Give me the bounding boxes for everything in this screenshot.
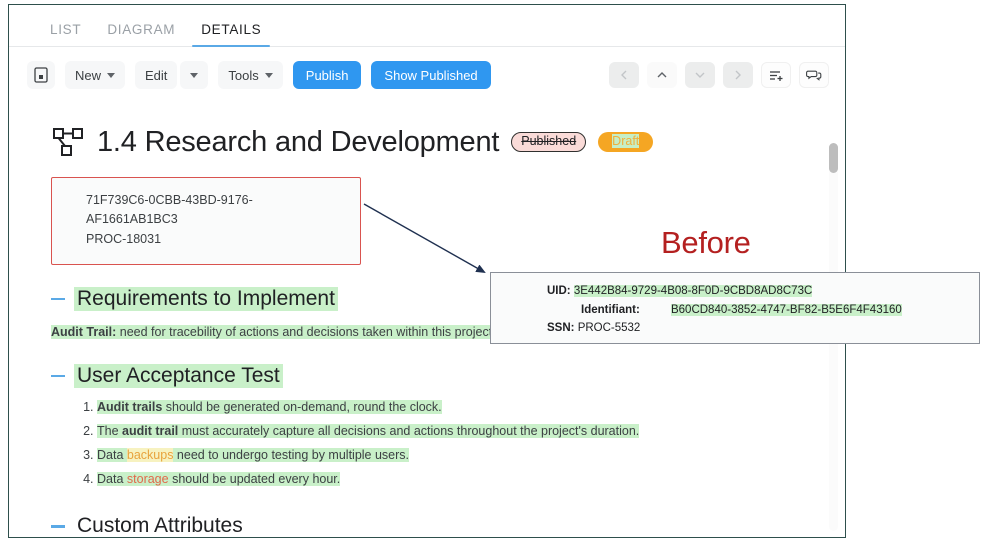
uat-item-1-rest: should be generated on-demand, round the…	[162, 400, 441, 414]
status-badge-draft: Draft	[598, 132, 653, 153]
list-item: The audit trail must accurately capture …	[97, 422, 805, 440]
edit-button[interactable]: Edit	[135, 61, 177, 89]
chevron-up-icon	[656, 70, 668, 80]
page-title: 1.4 Research and Development	[97, 126, 499, 159]
chevron-left-icon	[619, 69, 629, 81]
requirements-paragraph-bold: Audit Trail:	[51, 325, 116, 339]
edit-split-button: Edit	[135, 61, 208, 89]
tab-diagram[interactable]: DIAGRAM	[94, 22, 188, 46]
uat-item-3-highlight: backups	[127, 448, 174, 462]
before-callout-box: UID: 3E442B84-9729-4B08-8F0D-9CBD8AD8C73…	[490, 272, 980, 344]
tab-bar: LIST DIAGRAM DETAILS	[9, 5, 845, 47]
comments-button[interactable]	[799, 62, 829, 88]
uat-item-4-pre: Data	[97, 472, 127, 486]
section-custom-attributes-title: Custom Attributes	[74, 514, 246, 537]
uat-item-2-bold: audit trail	[122, 424, 178, 438]
callout-ssn-row: SSN: PROC-5532	[547, 319, 979, 338]
edit-button-label: Edit	[145, 68, 167, 83]
add-to-list-icon	[769, 69, 784, 82]
chevron-down-icon	[694, 70, 706, 80]
section-requirements-title: Requirements to Implement	[74, 287, 338, 311]
callout-uid-label: UID:	[547, 285, 571, 297]
callout-ssn-label: SSN:	[547, 322, 574, 334]
show-published-button[interactable]: Show Published	[371, 61, 490, 89]
edit-dropdown-button[interactable]	[180, 61, 208, 89]
section-custom-attributes-header: Custom Attributes	[51, 514, 805, 537]
callout-uid-value: 3E442B84-9729-4B08-8F0D-9CBD8AD8C73C	[574, 285, 812, 297]
show-published-button-label: Show Published	[384, 68, 477, 83]
uid-box: 71F739C6-0CBB-43BD-9176-AF1661AB1BC3 PRO…	[51, 177, 361, 265]
toolbar-right-group	[609, 62, 829, 88]
tab-details[interactable]: DETAILS	[188, 22, 274, 46]
uat-item-1-bold: Audit trails	[97, 400, 162, 414]
uat-item-3-rest: need to undergo testing by multiple user…	[173, 448, 409, 462]
uat-item-4-highlight: storage	[127, 472, 169, 486]
uid-box-line-2: PROC-18031	[86, 230, 344, 249]
previous-button[interactable]	[609, 62, 639, 88]
tools-button-label: Tools	[228, 68, 258, 83]
document-icon[interactable]	[27, 61, 55, 89]
section-uat-title: User Acceptance Test	[74, 364, 283, 388]
title-row: 1.4 Research and Development Published D…	[51, 125, 805, 159]
publish-button-label: Publish	[306, 68, 349, 83]
list-item: Data storage should be updated every hou…	[97, 470, 805, 488]
status-badge-published: Published	[511, 132, 586, 153]
next-button[interactable]	[723, 62, 753, 88]
tab-list[interactable]: LIST	[37, 22, 94, 46]
document-glyph	[34, 67, 48, 83]
callout-identifiant-row: Identifiant: B60CD840-3852-4747-BF82-B5E…	[547, 301, 979, 320]
requirements-paragraph-text: Audit Trail: need for tracebility of act…	[51, 325, 496, 339]
new-button[interactable]: New	[65, 61, 125, 89]
requirements-paragraph-rest: need for tracebility of actions and deci…	[116, 325, 495, 339]
comments-icon	[806, 69, 822, 82]
down-button[interactable]	[685, 62, 715, 88]
uat-item-4-rest: should be updated every hour.	[169, 472, 341, 486]
uat-item-3-pre: Data	[97, 448, 127, 462]
publish-button[interactable]: Publish	[293, 61, 362, 89]
list-item: Data backups need to undergo testing by …	[97, 446, 805, 464]
collapse-toggle-icon[interactable]	[51, 298, 65, 301]
chevron-down-icon	[107, 73, 115, 78]
chevron-down-icon	[265, 73, 273, 78]
collapse-toggle-icon[interactable]	[51, 375, 65, 378]
list-item: Audit trails should be generated on-dema…	[97, 398, 805, 416]
hierarchy-node-icon	[51, 125, 85, 159]
details-panel: LIST DIAGRAM DETAILS New Edit Tools	[8, 4, 846, 538]
callout-identifiant-label: Identifiant:	[581, 304, 640, 316]
section-uat-header: User Acceptance Test	[51, 364, 805, 388]
status-badge-draft-label: Draft	[612, 134, 639, 148]
up-button[interactable]	[647, 62, 677, 88]
toolbar: New Edit Tools Publish Show Published	[9, 47, 845, 103]
add-to-list-button[interactable]	[761, 62, 791, 88]
before-annotation-label: Before	[661, 225, 751, 261]
tools-button[interactable]: Tools	[218, 61, 282, 89]
callout-ssn-value: PROC-5532	[578, 322, 641, 334]
scrollbar-thumb[interactable]	[829, 143, 838, 173]
chevron-right-icon	[733, 69, 743, 81]
callout-identifiant-value: B60CD840-3852-4747-BF82-B5E6F4F43160	[671, 304, 902, 316]
uat-list: Audit trails should be generated on-dema…	[51, 398, 805, 489]
collapse-toggle-icon[interactable]	[51, 525, 65, 528]
chevron-down-icon	[190, 73, 198, 78]
new-button-label: New	[75, 68, 101, 83]
uat-item-2-rest: must accurately capture all decisions an…	[178, 424, 639, 438]
uat-item-2-pre: The	[97, 424, 122, 438]
callout-uid-row: UID: 3E442B84-9729-4B08-8F0D-9CBD8AD8C73…	[547, 282, 979, 301]
uid-box-line-1: 71F739C6-0CBB-43BD-9176-AF1661AB1BC3	[86, 191, 344, 230]
